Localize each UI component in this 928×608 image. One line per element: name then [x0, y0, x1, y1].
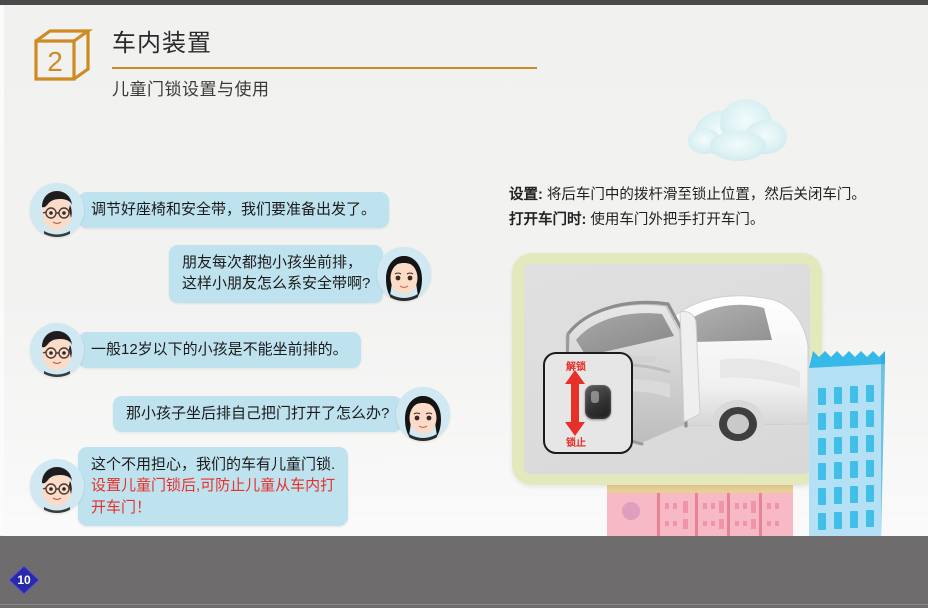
- cloud-icon: [680, 91, 800, 171]
- chat-bubble: 一般12岁以下的小孩是不能坐前排的。: [78, 332, 361, 368]
- footer-divider: [0, 604, 928, 605]
- slide-content-area: 2 车内装置 儿童门锁设置与使用: [4, 5, 928, 536]
- conversation-panel: 调节好座椅和安全带，我们要准备出发了。 朋友每次都抱小孩坐前排， 这样小朋友怎么…: [24, 175, 484, 535]
- window-top-strip: [0, 0, 928, 5]
- page-number-text: 10: [8, 565, 40, 595]
- door-lock-callout: 解锁 锁止: [543, 352, 633, 454]
- chat-bubble-line-plain: 这个不用担心，我们的车有儿童门锁.: [91, 456, 335, 473]
- chat-row: 朋友每次都抱小孩坐前排， 这样小朋友怎么系安全带啊?: [169, 245, 431, 303]
- slide-canvas: 2 车内装置 儿童门锁设置与使用: [0, 0, 928, 608]
- illustration-panel: 解锁 锁止: [512, 253, 822, 485]
- section-number-text: 2: [47, 46, 63, 77]
- male-avatar: [30, 323, 84, 377]
- door-lock-lever-icon: [585, 385, 611, 419]
- page-number-badge: 10: [8, 565, 40, 595]
- callout-label-lock: 锁止: [548, 434, 604, 449]
- slide-header: 2 车内装置 儿童门锁设置与使用: [30, 25, 590, 105]
- page-subtitle: 儿童门锁设置与使用: [112, 75, 270, 100]
- page-title: 车内装置: [112, 23, 212, 58]
- female-avatar: [396, 387, 450, 441]
- lock-direction-arrow-icon: [563, 370, 587, 436]
- female-avatar: [377, 247, 431, 301]
- chat-row: 这个不用担心，我们的车有儿童门锁.设置儿童门锁后,可防止儿童从车内打 开车门！: [30, 447, 348, 526]
- male-avatar: [30, 459, 84, 513]
- pink-building: [607, 483, 793, 536]
- instructions-block: 设置: 将后车门中的拨杆滑至锁止位置，然后关闭车门。 打开车门时: 使用车门外把…: [509, 183, 928, 233]
- slide-left-edge: [0, 5, 4, 535]
- section-number-cube-icon: 2: [30, 27, 96, 93]
- instruction-label-setting: 设置:: [509, 187, 543, 203]
- instruction-line-2: 打开车门时: 使用车门外把手打开车门。: [509, 208, 928, 233]
- chat-bubble-line-highlight: 设置儿童门锁后,可防止儿童从车内打 开车门！: [91, 477, 335, 515]
- instruction-text-opening: 使用车门外把手打开车门。: [586, 212, 764, 228]
- instruction-text-setting: 将后车门中的拨杆滑至锁止位置，然后关闭车门。: [543, 187, 866, 203]
- chat-bubble: 朋友每次都抱小孩坐前排， 这样小朋友怎么系安全带啊?: [169, 245, 383, 303]
- chat-bubble: 这个不用担心，我们的车有儿童门锁.设置儿童门锁后,可防止儿童从车内打 开车门！: [78, 447, 348, 526]
- instruction-label-opening: 打开车门时:: [509, 212, 586, 228]
- illustration-image: 解锁 锁止: [524, 264, 810, 474]
- blue-building: [805, 346, 891, 536]
- title-underline: [112, 67, 537, 69]
- chat-bubble: 调节好座椅和安全带，我们要准备出发了。: [78, 192, 389, 228]
- chat-row: 一般12岁以下的小孩是不能坐前排的。: [30, 323, 361, 377]
- chat-row: 调节好座椅和安全带，我们要准备出发了。: [30, 183, 389, 237]
- instruction-line-1: 设置: 将后车门中的拨杆滑至锁止位置，然后关闭车门。: [509, 183, 928, 208]
- chat-bubble: 那小孩子坐后排自己把门打开了怎么办?: [113, 396, 402, 432]
- male-avatar: [30, 183, 84, 237]
- chat-row: 那小孩子坐后排自己把门打开了怎么办?: [113, 387, 450, 441]
- footer-bar: [0, 536, 928, 608]
